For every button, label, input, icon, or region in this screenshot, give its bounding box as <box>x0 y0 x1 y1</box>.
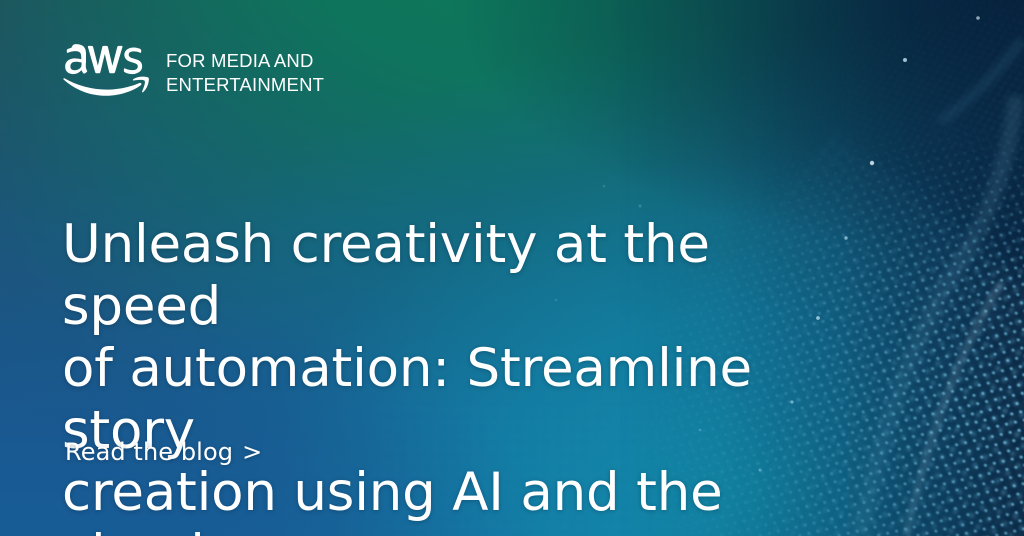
chevron-right-icon: > <box>242 436 262 468</box>
banner-content: FOR MEDIA AND ENTERTAINMENT Unleash crea… <box>0 0 1024 536</box>
aws-brand-lockup[interactable]: FOR MEDIA AND ENTERTAINMENT <box>63 44 324 96</box>
aws-logo-icon <box>63 44 149 96</box>
cta-label: Read the blog <box>65 436 233 468</box>
program-name-label: FOR MEDIA AND ENTERTAINMENT <box>166 44 324 96</box>
page-title: Unleash creativity at the speed of autom… <box>62 214 842 536</box>
aws-media-entertainment-hero-banner: FOR MEDIA AND ENTERTAINMENT Unleash crea… <box>0 0 1024 536</box>
read-the-blog-link[interactable]: Read the blog > <box>65 436 262 468</box>
